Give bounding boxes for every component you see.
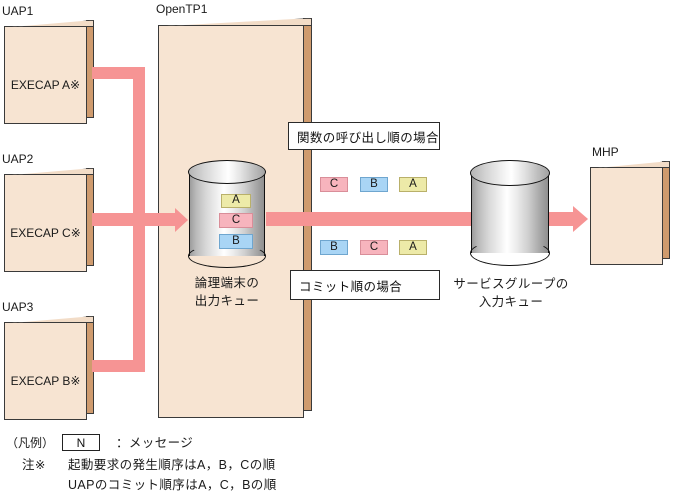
input-queue-top-cap — [470, 160, 550, 186]
output-queue-label-line2: 出力キュー — [177, 294, 277, 310]
mhp-side — [662, 161, 670, 259]
function-order-message-2: A — [399, 177, 427, 192]
output-queue-message-1: C — [219, 213, 253, 228]
diagram-canvas: OpenTP1 UAP1 EXECAP A※ UAP2 EXECAP C※ UA… — [0, 0, 680, 497]
legend-title: （凡例） — [6, 436, 54, 451]
opentp1-caption: OpenTP1 — [156, 2, 207, 17]
legend-note-marker: 注※ — [22, 458, 46, 474]
uap3-caption: UAP3 — [2, 300, 33, 315]
output-queue-message-0: A — [221, 194, 251, 208]
commit-order-message-2: A — [399, 240, 427, 255]
uap2-face — [4, 174, 87, 272]
output-queue-label-line1: 論理端末の — [177, 276, 277, 292]
uap1-box: EXECAP A※ — [4, 20, 94, 124]
uap1-caption: UAP1 — [2, 4, 33, 19]
mhp-caption: MHP — [592, 145, 619, 160]
legend-message-meaning: ：メッセージ — [116, 436, 193, 452]
uap2-caption: UAP2 — [2, 152, 33, 167]
uap2-box: EXECAP C※ — [4, 168, 94, 272]
uap1-body: EXECAP A※ — [4, 78, 87, 92]
function-order-message-1: B — [360, 177, 388, 192]
callout-function-call-order: 関数の呼び出し順の場合 — [288, 122, 440, 150]
callout-commit-order: コミット順の場合 — [290, 270, 440, 300]
input-queue-bottom-cap — [470, 240, 550, 266]
function-order-message-0: C — [320, 177, 348, 192]
input-queue-cylinder — [471, 173, 549, 253]
uap3-body: EXECAP B※ — [4, 374, 87, 388]
input-queue-label-line1: サービスグループの — [448, 277, 574, 293]
input-queue-label-line2: 入力キュー — [448, 295, 574, 311]
legend-note-line2: UAPのコミット順序はA，C，Bの順 — [68, 478, 277, 494]
uap2-body: EXECAP C※ — [4, 226, 87, 240]
commit-order-message-1: C — [360, 240, 388, 255]
legend-note-line1: 起動要求の発生順序はA，B，Cの順 — [68, 458, 276, 474]
output-queue-top-cap — [188, 160, 266, 184]
flow-into-output-queue — [133, 213, 175, 226]
legend-message-symbol: N — [62, 434, 100, 451]
mhp-box — [590, 161, 670, 265]
uap3-box: EXECAP B※ — [4, 316, 94, 420]
mhp-face — [590, 167, 663, 265]
uap3-face — [4, 322, 87, 420]
uap1-face — [4, 26, 87, 124]
commit-order-message-0: B — [320, 240, 348, 255]
output-queue-bottom-cap — [188, 244, 266, 268]
